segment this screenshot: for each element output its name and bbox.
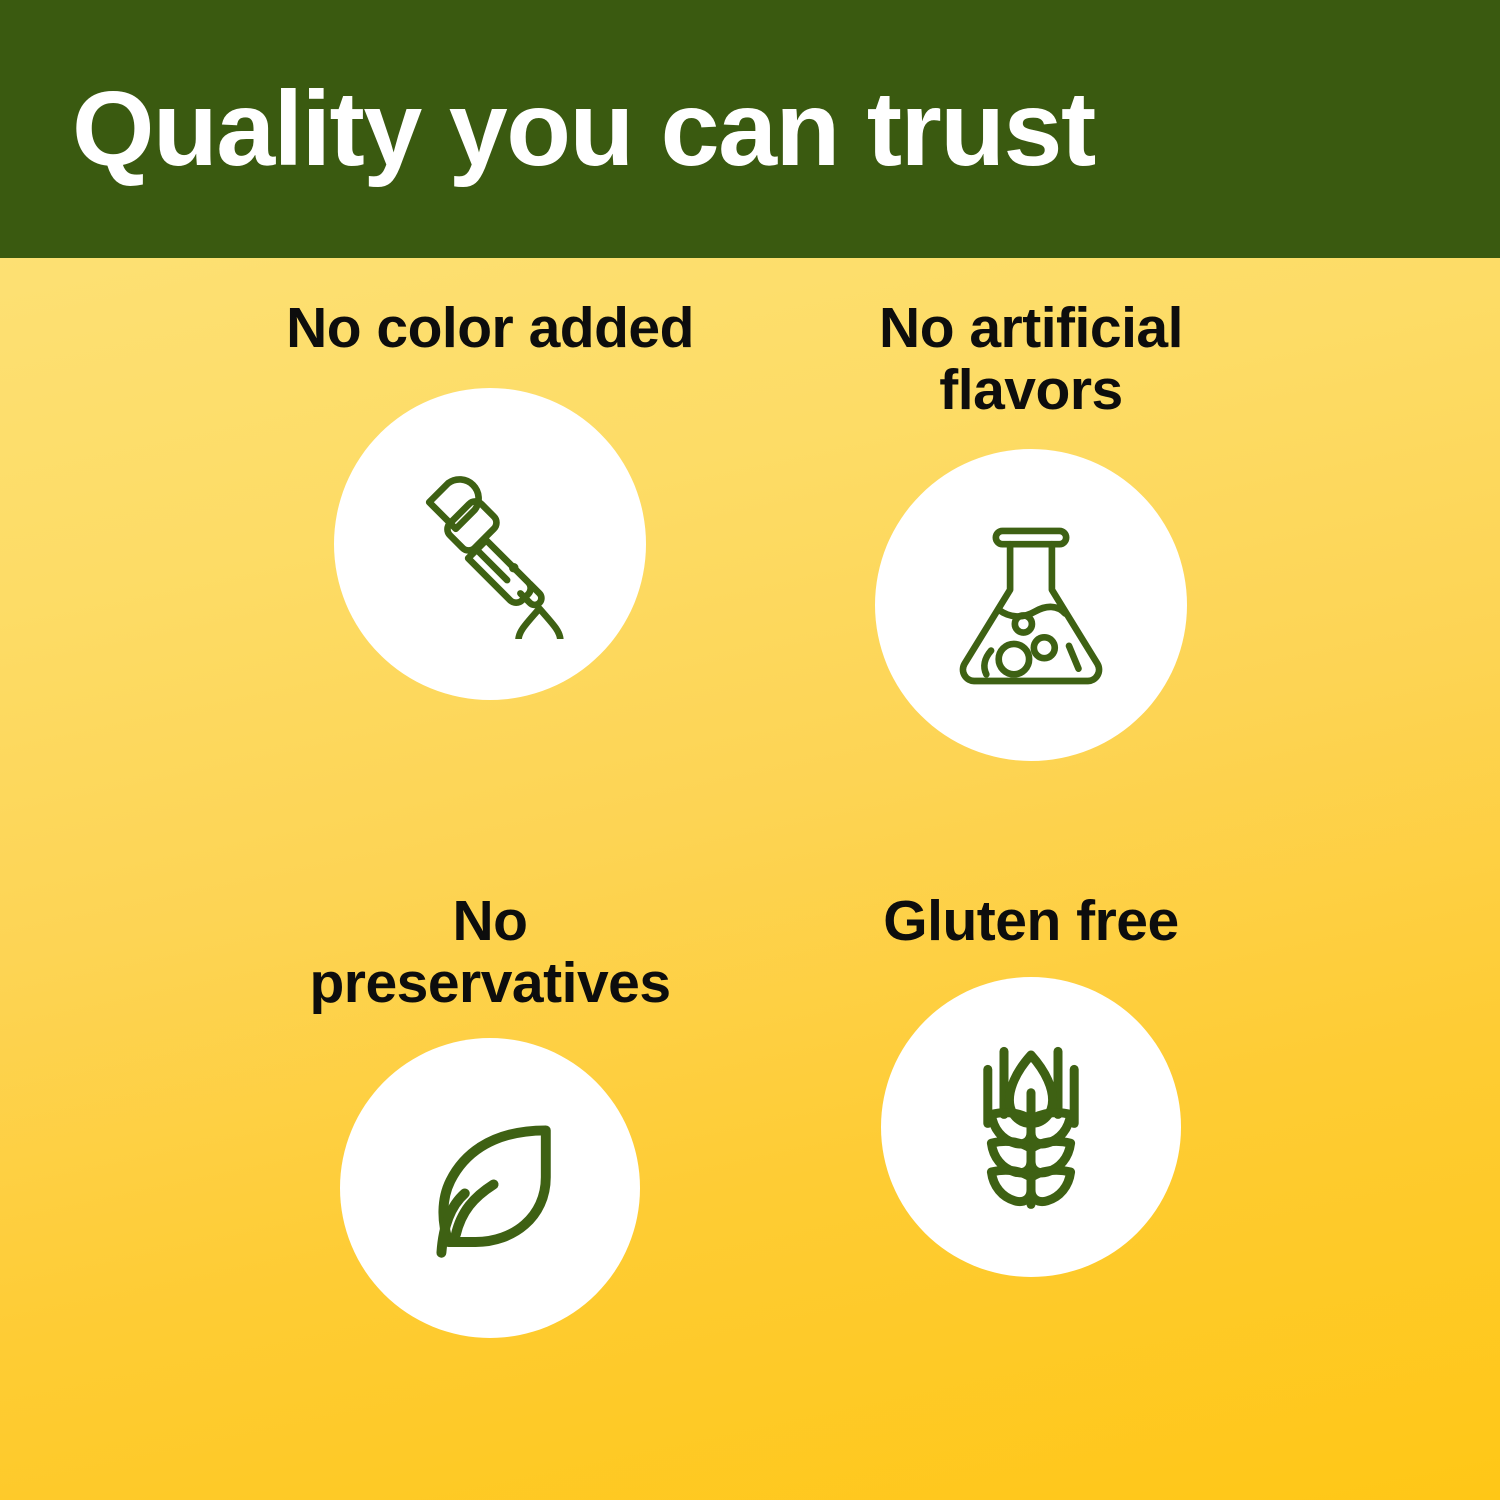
icon-badge bbox=[334, 388, 646, 700]
feature-gluten-free: Gluten free bbox=[792, 891, 1270, 1452]
feature-label: No preservatives bbox=[280, 891, 700, 1014]
page-title: Quality you can trust bbox=[72, 76, 1095, 182]
quality-badge-graphic: Quality you can trust No color added bbox=[0, 0, 1500, 1500]
leaf-icon bbox=[400, 1098, 580, 1278]
feature-grid: No color added bbox=[0, 258, 1500, 1500]
icon-badge bbox=[875, 449, 1187, 761]
feature-label: No artificial flavors bbox=[821, 298, 1241, 421]
feature-no-color-added: No color added bbox=[230, 298, 750, 875]
icon-badge bbox=[340, 1038, 640, 1338]
icon-badge bbox=[881, 977, 1181, 1277]
wheat-icon bbox=[941, 1037, 1121, 1217]
feature-no-artificial-flavors: No artificial flavors bbox=[792, 298, 1270, 875]
header-band: Quality you can trust bbox=[0, 0, 1500, 258]
flask-icon bbox=[936, 510, 1126, 700]
feature-label: Gluten free bbox=[883, 891, 1178, 953]
features-panel: No color added bbox=[0, 258, 1500, 1500]
feature-no-preservatives: No preservatives bbox=[230, 891, 750, 1452]
dropper-icon bbox=[395, 449, 585, 639]
feature-label: No color added bbox=[286, 298, 694, 360]
